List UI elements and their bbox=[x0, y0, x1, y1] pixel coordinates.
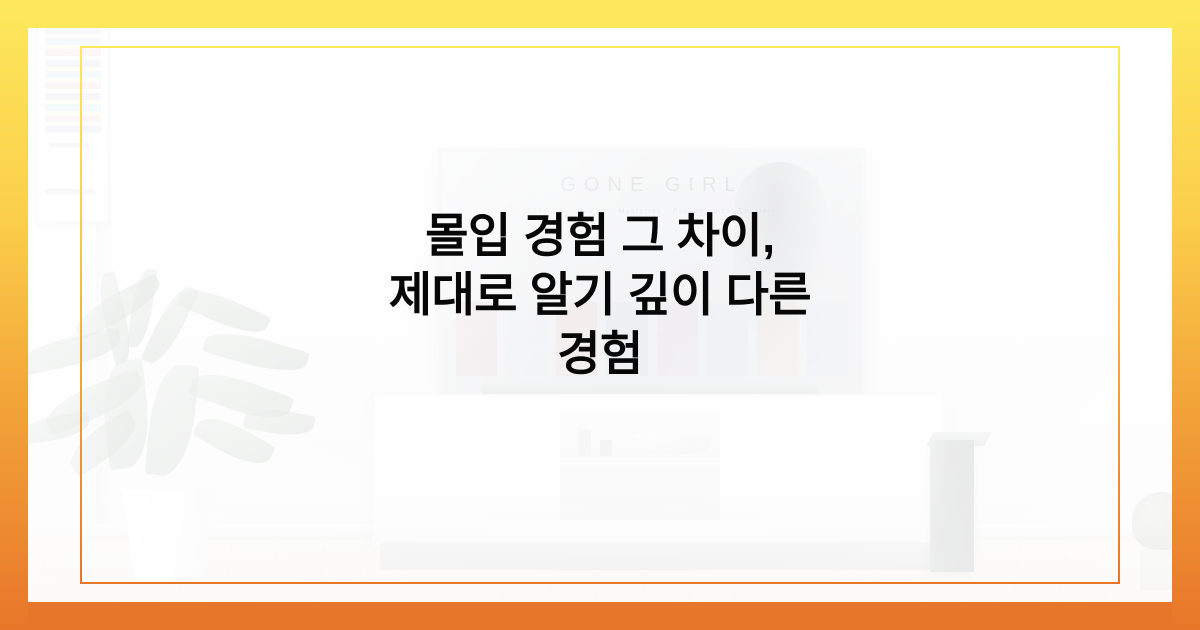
poster-caption-line-2 bbox=[45, 189, 95, 194]
cubby-item bbox=[629, 434, 713, 454]
poster-stripes bbox=[45, 5, 101, 133]
social-card: GONE GIRL 2014 · A · 2h 29m · Mysteries … bbox=[0, 0, 1200, 630]
decor-object bbox=[1132, 492, 1190, 550]
wall-poster bbox=[36, 0, 110, 224]
plant-pot bbox=[116, 490, 220, 580]
cubby-shelf bbox=[560, 462, 720, 471]
headline: 몰입 경험 그 차이, 제대로 알기 깊이 다른 경험 bbox=[140, 206, 1060, 384]
tower-speaker bbox=[930, 440, 974, 572]
poster-caption-line bbox=[49, 143, 89, 147]
console-cubby bbox=[560, 414, 720, 520]
cubby-item bbox=[600, 440, 612, 456]
cubby-item bbox=[578, 430, 591, 456]
media-console bbox=[372, 394, 944, 546]
console-plinth bbox=[380, 542, 936, 570]
